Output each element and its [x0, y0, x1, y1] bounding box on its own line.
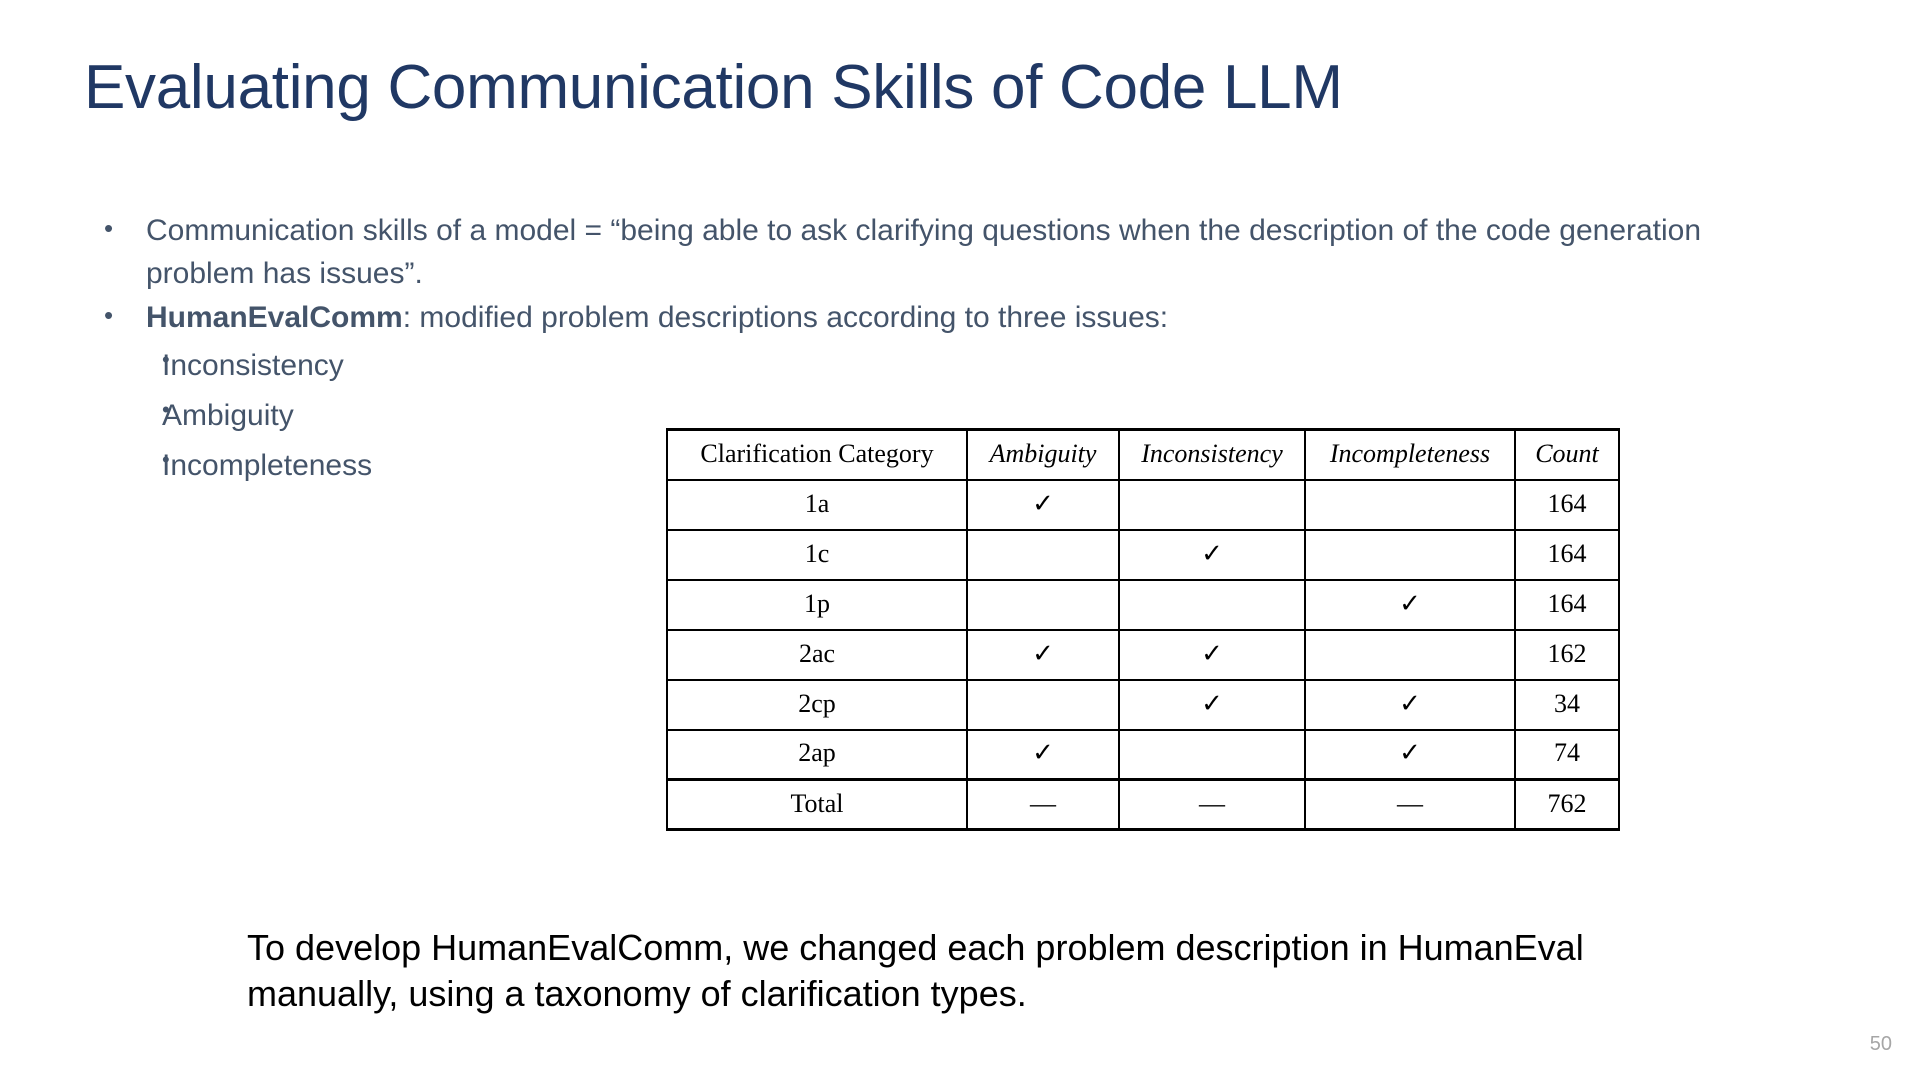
bullet-dot-icon: •: [84, 396, 162, 425]
bullet-dot-icon: •: [84, 297, 146, 334]
cell-count: 74: [1515, 730, 1619, 780]
bullet-dot-icon: •: [84, 446, 162, 475]
column-header-inconsistency: Inconsistency: [1119, 430, 1305, 480]
column-header-incompleteness: Incompleteness: [1305, 430, 1515, 480]
clarification-category-table: Clarification Category Ambiguity Inconsi…: [666, 428, 1620, 831]
cell-count: 164: [1515, 580, 1619, 630]
table-row: 1a ✓ 164: [667, 480, 1619, 530]
page-title: Evaluating Communication Skills of Code …: [84, 52, 1343, 123]
cell-category: 2ap: [667, 730, 967, 780]
cell-category: 1c: [667, 530, 967, 580]
cell-inconsistency: [1119, 580, 1305, 630]
page-number: 50: [1870, 1033, 1892, 1056]
bullet-text-communication-skills: Communication skills of a model = “being…: [146, 210, 1806, 295]
cell-inconsistency: [1119, 480, 1305, 530]
table-row: 2cp ✓ ✓ 34: [667, 680, 1619, 730]
sub-bullet-label-incompleteness: Incompleteness: [162, 446, 372, 485]
column-header-ambiguity: Ambiguity: [967, 430, 1119, 480]
cell-ambiguity: ✓: [967, 730, 1119, 780]
cell-inconsistency: ✓: [1119, 530, 1305, 580]
cell-category: 1a: [667, 480, 967, 530]
cell-count: 34: [1515, 680, 1619, 730]
cell-category: Total: [667, 780, 967, 830]
column-header-count: Count: [1515, 430, 1619, 480]
cell-category: 2ac: [667, 630, 967, 680]
bullet-text-humanevalcomm: HumanEvalComm: modified problem descript…: [146, 297, 1766, 340]
sub-bullet-label-inconsistency: Inconsistency: [162, 346, 344, 385]
table-row: 1p ✓ 164: [667, 580, 1619, 630]
cell-count: 164: [1515, 530, 1619, 580]
table-body: 1a ✓ 164 1c ✓ 164 1p ✓ 164 2ac: [667, 480, 1619, 830]
bullet-bold-term-humanevalcomm: HumanEvalComm: [146, 301, 403, 334]
cell-incompleteness: ✓: [1305, 580, 1515, 630]
cell-incompleteness: [1305, 630, 1515, 680]
table-header-row: Clarification Category Ambiguity Inconsi…: [667, 430, 1619, 480]
table-row: 2ac ✓ ✓ 162: [667, 630, 1619, 680]
cell-incompleteness: [1305, 530, 1515, 580]
sub-bullet-label-ambiguity: Ambiguity: [162, 396, 294, 435]
cell-incompleteness: ✓: [1305, 730, 1515, 780]
cell-ambiguity: —: [967, 780, 1119, 830]
cell-incompleteness: [1305, 480, 1515, 530]
cell-ambiguity: ✓: [967, 480, 1119, 530]
bullet-rest-humanevalcomm: : modified problem descriptions accordin…: [403, 301, 1168, 334]
cell-inconsistency: [1119, 730, 1305, 780]
table-header: Clarification Category Ambiguity Inconsi…: [667, 430, 1619, 480]
cell-inconsistency: ✓: [1119, 630, 1305, 680]
cell-ambiguity: [967, 530, 1119, 580]
cell-incompleteness: —: [1305, 780, 1515, 830]
cell-ambiguity: [967, 580, 1119, 630]
cell-ambiguity: [967, 680, 1119, 730]
slide-caption: To develop HumanEvalComm, we changed eac…: [247, 925, 1667, 1017]
cell-category: 1p: [667, 580, 967, 630]
cell-ambiguity: ✓: [967, 630, 1119, 680]
cell-inconsistency: —: [1119, 780, 1305, 830]
cell-count: 164: [1515, 480, 1619, 530]
table-row: 2ap ✓ ✓ 74: [667, 730, 1619, 780]
table-row-total: Total — — — 762: [667, 780, 1619, 830]
bullet-dot-icon: •: [84, 210, 146, 247]
cell-incompleteness: ✓: [1305, 680, 1515, 730]
cell-category: 2cp: [667, 680, 967, 730]
table-row: 1c ✓ 164: [667, 530, 1619, 580]
cell-count: 762: [1515, 780, 1619, 830]
cell-inconsistency: ✓: [1119, 680, 1305, 730]
list-item: • Inconsistency: [84, 346, 1824, 385]
list-item: • Communication skills of a model = “bei…: [84, 210, 1824, 295]
list-item: • HumanEvalComm: modified problem descri…: [84, 297, 1824, 340]
clarification-category-table-container: Clarification Category Ambiguity Inconsi…: [666, 428, 1620, 831]
bullet-dot-icon: •: [84, 346, 162, 375]
cell-count: 162: [1515, 630, 1619, 680]
column-header-clarification-category: Clarification Category: [667, 430, 967, 480]
